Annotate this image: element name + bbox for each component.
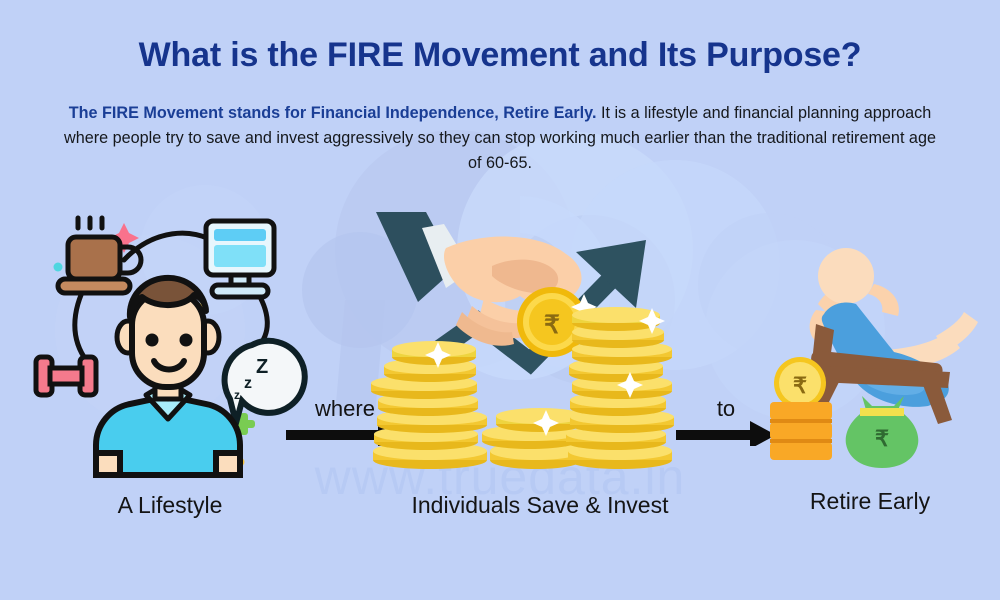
dumbbell-icon: [36, 357, 96, 395]
page-title: What is the FIRE Movement and Its Purpos…: [0, 36, 1000, 75]
coin-stack-left: [371, 341, 487, 469]
retire-illustration: ₹ ₹: [758, 238, 988, 468]
page-description: The FIRE Movement stands for Financial I…: [60, 101, 940, 176]
caption-lifestyle: A Lifestyle: [40, 492, 300, 519]
desktop-monitor-icon: [206, 221, 274, 297]
retire-coin-symbol: ₹: [793, 373, 807, 398]
infographic-canvas: What is the FIRE Movement and Its Purpos…: [0, 0, 1000, 600]
invest-illustration: ₹: [360, 210, 680, 480]
coin-stack-icon: ₹: [770, 357, 832, 460]
caption-invest: Individuals Save & Invest: [345, 492, 735, 519]
description-lead: The FIRE Movement stands for Financial I…: [69, 104, 597, 122]
coin-stack-right: [566, 307, 674, 469]
sleep-z-large: Z: [256, 356, 268, 378]
sleep-z-small: z: [234, 388, 240, 402]
money-bag-icon: ₹: [846, 396, 919, 468]
lifestyle-illustration: Z z z: [28, 205, 318, 480]
coin-rupee-symbol: ₹: [544, 311, 560, 339]
caption-retire: Retire Early: [740, 488, 1000, 515]
person-avatar-icon: [96, 278, 240, 475]
sleep-z-mid: z: [244, 375, 252, 392]
moneybag-rupee-symbol: ₹: [875, 426, 889, 451]
dot-cyan-icon: [54, 263, 63, 272]
